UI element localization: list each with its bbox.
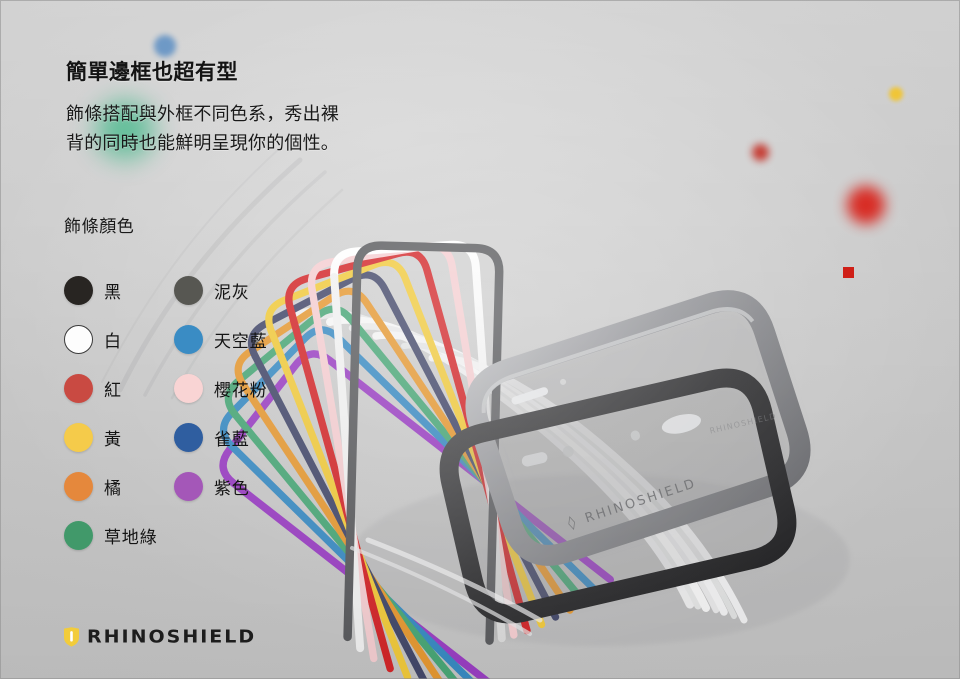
swatch-label-orange: 橘 — [104, 474, 122, 499]
brand-logo: RHINOSHIELD — [63, 626, 256, 648]
swatch-item-peacock-blue[interactable]: 雀藍 — [174, 423, 284, 452]
swatch-label-peacock-blue: 雀藍 — [214, 425, 250, 450]
swatch-row: 橘紫色 — [64, 462, 284, 511]
subtitle-line-2: 背的同時也能鮮明呈現你的個性。 — [66, 129, 339, 158]
subtitle-line-1: 飾條搭配與外框不同色系，秀出裸 — [66, 100, 339, 129]
swatch-item-white[interactable]: 白 — [64, 325, 174, 354]
swatch-dot-peacock-blue — [174, 423, 203, 452]
legend-title: 飾條顏色 — [64, 212, 134, 237]
swatch-item-red[interactable]: 紅 — [64, 374, 174, 403]
swatch-item-orange[interactable]: 橘 — [64, 472, 174, 501]
swatch-dot-purple — [174, 472, 203, 501]
swatch-label-purple: 紫色 — [214, 474, 250, 499]
swatch-row: 白天空藍 — [64, 315, 284, 364]
swatch-row: 黑泥灰 — [64, 266, 284, 315]
swatch-dot-white — [64, 325, 93, 354]
page-title: 簡單邊框也超有型 — [66, 60, 238, 86]
yellow-dot — [889, 87, 903, 101]
swatch-dot-orange — [64, 472, 93, 501]
swatch-dot-grass-green — [64, 521, 93, 550]
swatch-dot-sky-blue — [174, 325, 203, 354]
swatch-dot-sakura-pink — [174, 374, 203, 403]
swatch-item-black[interactable]: 黑 — [64, 276, 174, 305]
swatch-item-grass-green[interactable]: 草地綠 — [64, 521, 174, 550]
brand-wordmark: RHINOSHIELD — [87, 627, 256, 648]
swatch-item-yellow[interactable]: 黃 — [64, 423, 174, 452]
swatch-item-mud-grey[interactable]: 泥灰 — [174, 276, 284, 305]
swatch-label-yellow: 黃 — [104, 425, 122, 450]
swatch-dot-black — [64, 276, 93, 305]
product-infographic: RHINOSHIELD ◊ RHINOSHIELD 簡單邊框也超有型 飾條搭配與… — [0, 0, 960, 679]
swatch-item-sky-blue[interactable]: 天空藍 — [174, 325, 284, 354]
swatch-label-black: 黑 — [104, 278, 122, 303]
swatch-label-mud-grey: 泥灰 — [214, 278, 250, 303]
red-square — [843, 267, 854, 278]
color-swatch-legend: 黑泥灰白天空藍紅櫻花粉黃雀藍橘紫色草地綠 — [64, 266, 284, 560]
shield-icon — [63, 627, 80, 647]
swatch-row: 紅櫻花粉 — [64, 364, 284, 413]
swatch-item-sakura-pink[interactable]: 櫻花粉 — [174, 374, 284, 403]
swatch-dot-yellow — [64, 423, 93, 452]
small-red-dot — [752, 144, 769, 161]
swatch-label-sky-blue: 天空藍 — [214, 327, 267, 352]
large-red-blob — [847, 186, 885, 224]
swatch-row: 黃雀藍 — [64, 413, 284, 462]
swatch-label-sakura-pink: 櫻花粉 — [214, 376, 267, 401]
swatch-label-grass-green: 草地綠 — [104, 523, 157, 548]
swatch-label-red: 紅 — [104, 376, 122, 401]
page-subtitle: 飾條搭配與外框不同色系，秀出裸 背的同時也能鮮明呈現你的個性。 — [66, 100, 339, 158]
swatch-item-purple[interactable]: 紫色 — [174, 472, 284, 501]
swatch-label-white: 白 — [104, 327, 122, 352]
blue-dot — [154, 35, 176, 57]
swatch-dot-red — [64, 374, 93, 403]
swatch-dot-mud-grey — [174, 276, 203, 305]
swatch-row: 草地綠 — [64, 511, 284, 560]
